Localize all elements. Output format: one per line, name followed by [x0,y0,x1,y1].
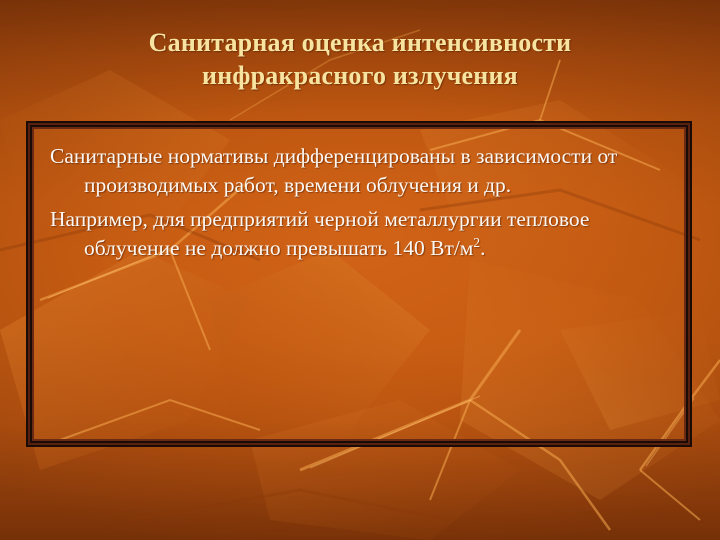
content-body: Санитарные нормативы дифференцированы в … [36,131,682,437]
body-paragraph-2-tail: . [480,236,485,260]
body-paragraph-2: Например, для предприятий черной металлу… [50,205,668,263]
body-paragraph-1: Санитарные нормативы дифференцированы в … [50,142,668,200]
slide-title-line-2: инфракрасного излучения [40,59,680,92]
slide-canvas: Санитарная оценка интенсивности инфракра… [0,0,720,540]
body-paragraph-1-text: Санитарные нормативы дифференцированы в … [50,144,617,197]
slide-title: Санитарная оценка интенсивности инфракра… [40,26,680,92]
content-frame-box: Санитарные нормативы дифференцированы в … [26,121,692,447]
slide-title-line-1: Санитарная оценка интенсивности [40,26,680,59]
body-paragraph-2-text: Например, для предприятий черной металлу… [50,207,589,260]
